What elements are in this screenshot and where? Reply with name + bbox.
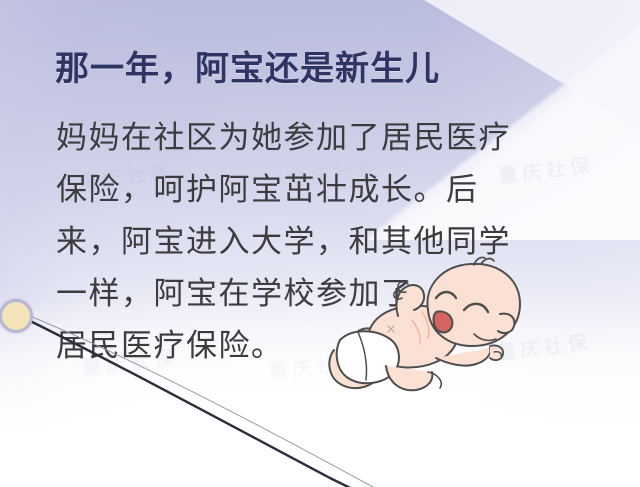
baby-hair-tuft-2 xyxy=(481,259,494,264)
poster-canvas: 重庆社保 重庆社保 重庆社保 重庆社保 重庆社保 重庆社保 那一年，阿宝还是新生… xyxy=(0,0,640,487)
body-line: 妈妈在社区为她参加了居民医疗 xyxy=(56,112,526,164)
decorative-orb xyxy=(0,299,33,333)
page-title: 那一年，阿宝还是新生儿 xyxy=(55,48,440,92)
crawling-baby-illustration xyxy=(324,254,534,404)
baby-front-leg xyxy=(386,366,432,390)
body-line: 保险，呵护阿宝茁壮成长。后 xyxy=(56,164,526,216)
baby-mouth xyxy=(434,311,453,332)
baby-ear xyxy=(498,314,514,333)
